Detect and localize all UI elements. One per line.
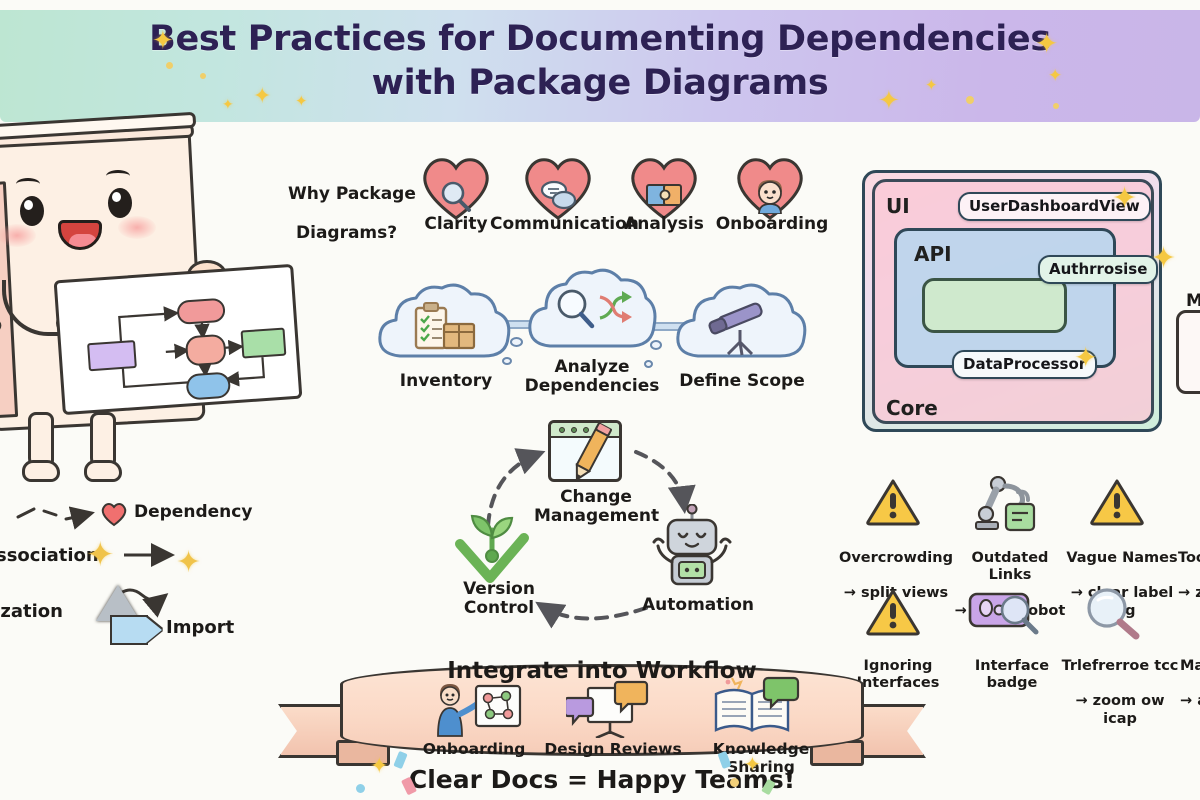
whiteboard-node-blue-rounded — [185, 371, 231, 400]
workflow-ribbon-banner: Integrate into Workflow Onboarding — [282, 648, 922, 800]
benefit-heart-onboarding[interactable] — [732, 152, 808, 222]
easel-speech-icon — [566, 680, 652, 738]
benefit-heart-clarity[interactable] — [418, 152, 494, 222]
cycle-label-version-control: Version Control — [444, 580, 554, 619]
workflow-cycle-diagram: Change Management Automation — [430, 418, 770, 630]
pitfall-title: Vague Names — [1062, 550, 1182, 568]
cycle-label-automation: Automation — [642, 596, 752, 615]
legend-label-import: Import — [166, 618, 266, 639]
confetti-icon — [730, 778, 739, 787]
browser-dot-icon — [583, 427, 589, 433]
sparkle-dot-icon — [966, 96, 974, 104]
eye-icon — [108, 188, 132, 218]
pitfall-garbled-row2: Trlefrerroe tcc → zoom ow icap — [1058, 640, 1182, 746]
sparkle-dot-icon — [166, 62, 173, 69]
whiteboard-node-pink-pill — [176, 298, 226, 325]
sparkle-icon: ✦ — [222, 98, 234, 112]
confetti-icon — [356, 784, 365, 793]
sparkle-icon: ✦ — [1048, 68, 1062, 85]
right-cutoff-card — [1176, 310, 1200, 394]
robot-icon — [648, 504, 736, 592]
pitfall-title: Trlefrerroe tcc — [1058, 658, 1182, 676]
speech-bubbles-icon — [538, 178, 578, 214]
package-label-ui: UI — [886, 194, 910, 218]
infographic-canvas: Best Practices for Documenting Dependenc… — [0, 0, 1200, 800]
package-label-core: Core — [886, 396, 938, 420]
warning-triangle-icon — [1090, 478, 1144, 526]
pitfall-title: Overcrowding — [838, 550, 954, 568]
telescope-icon — [708, 298, 778, 356]
title-line-1: Best Practices for Documenting Dependenc… — [149, 19, 1051, 59]
title-line-2: with Package Diagrams — [0, 62, 1200, 106]
whiteboard-node-purple-rect — [87, 340, 137, 371]
sprout-check-icon — [452, 508, 532, 586]
puzzle-piece-icon — [644, 178, 684, 214]
eye-icon — [20, 196, 44, 226]
why-heading-line-1: Why Package — [288, 185, 418, 204]
sparkle-icon: ✦ — [152, 28, 174, 54]
badge-magnifier-icon — [966, 586, 1048, 638]
star-icon: ✦ — [86, 538, 115, 572]
clipboard-box-icon — [412, 302, 480, 352]
pitfall-title: Ma — [1180, 658, 1200, 676]
process-label-define-scope: Define Scope — [668, 372, 816, 391]
whiteboard-node-green-rect — [241, 328, 287, 359]
pitfall-interface-badge: Interface badge — [960, 640, 1064, 711]
benefit-heart-analysis[interactable] — [626, 152, 702, 222]
sparkle-dot-icon — [200, 73, 206, 79]
benefit-label-analysis: Analysis — [606, 215, 722, 234]
sparkle-icon: ✦ — [370, 756, 388, 778]
heart-icon — [100, 501, 128, 527]
process-cloud-inventory[interactable] — [372, 278, 516, 374]
star-icon: ✦ — [176, 548, 201, 578]
sparkle-icon: ✦ — [253, 86, 271, 108]
cloud-mini-icon — [644, 360, 653, 368]
browser-dot-icon — [571, 427, 577, 433]
sparkle-icon: ✦ — [1035, 30, 1058, 58]
cloud-mini-icon — [650, 340, 662, 350]
sparkle-icon: ✦ — [1112, 184, 1137, 214]
process-cloud-analyze[interactable] — [524, 264, 660, 364]
process-label-inventory: Inventory — [386, 372, 506, 391]
legend-label-dependency: Dependency — [134, 503, 264, 522]
benefit-label-onboarding: Onboarding — [712, 215, 832, 234]
magnifier-icon — [1082, 586, 1144, 640]
magnifier-shuffle-icon — [552, 286, 636, 334]
class-chip-authorise[interactable]: Authrrosise — [1038, 255, 1158, 284]
pitfall-title: Interface badge — [960, 658, 1064, 693]
benefit-heart-communication[interactable] — [520, 152, 596, 222]
pitfall-cutoff-row2: Ma → au — [1180, 640, 1200, 728]
blush-icon — [118, 216, 156, 239]
package-diagram: UI API Core UserDashboardView Authrrosis… — [862, 170, 1162, 432]
whiteboard-node-pink-rounded — [185, 334, 227, 367]
warning-triangle-icon — [866, 478, 920, 526]
open-book-speech-icon — [710, 676, 806, 738]
cloud-mini-icon — [510, 337, 523, 347]
person-presenting-icon — [428, 680, 524, 738]
sparkle-icon: ✦ — [1151, 244, 1176, 274]
right-cutoff-label-m: M — [1186, 292, 1200, 311]
eyebrow-icon — [16, 178, 40, 190]
robot-arm-icon — [972, 476, 1042, 532]
sparkle-icon: ✦ — [1074, 344, 1097, 372]
whiteboard — [54, 264, 303, 415]
sparkle-dot-icon — [1053, 103, 1059, 109]
process-cloud-define-scope[interactable] — [670, 278, 812, 374]
pitfall-cutoff-row1: Too → z — [1178, 532, 1200, 620]
sparkle-icon: ✦ — [925, 78, 938, 93]
spine-hole-icon — [0, 319, 2, 333]
pitfall-fix: → zoom ow icap — [1058, 693, 1182, 728]
cycle-label-change-management: Change Management — [534, 488, 658, 527]
person-icon — [750, 178, 790, 214]
warning-triangle-icon — [866, 588, 920, 636]
page-title: Best Practices for Documenting Dependenc… — [0, 18, 1200, 106]
process-label-analyze: Analyze Dependencies — [524, 358, 660, 397]
package-inner-box[interactable] — [922, 278, 1067, 333]
sparkle-icon: ✦ — [295, 94, 308, 109]
import-shape-icon — [110, 615, 148, 645]
pitfall-fix: → au — [1180, 693, 1200, 711]
sparkle-icon: ✦ — [878, 88, 900, 114]
pitfall-title: Outdated Links — [952, 550, 1068, 585]
magnifier-icon — [436, 178, 476, 214]
pitfall-fix: → z — [1178, 585, 1200, 603]
eyebrow-icon — [106, 170, 130, 182]
ribbon-item-label-onboarding: Onboarding — [404, 740, 544, 758]
foot-icon — [22, 460, 60, 482]
browser-dot-icon — [559, 427, 565, 433]
import-arrowhead-icon — [146, 617, 162, 643]
foot-icon — [84, 460, 122, 482]
cloud-mini-icon — [502, 357, 512, 365]
ribbon-item-label-design-reviews: Design Reviews — [538, 740, 688, 758]
sparkle-icon: ✦ — [744, 754, 761, 774]
package-label-api: API — [914, 242, 952, 266]
pitfall-title: Too — [1178, 550, 1200, 568]
